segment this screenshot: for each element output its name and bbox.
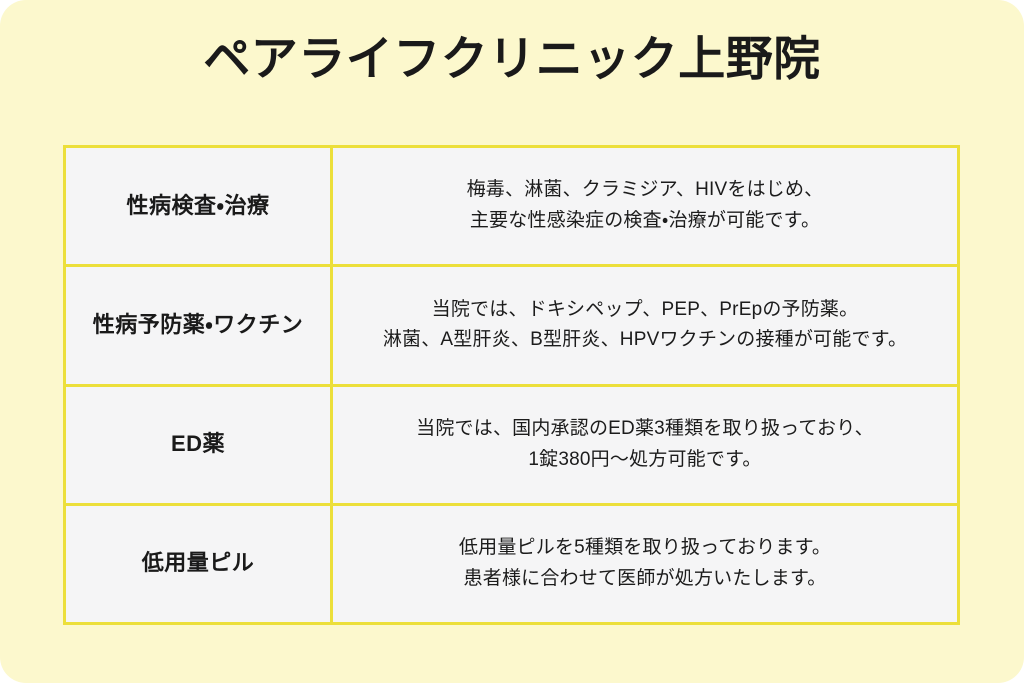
description-line: 1錠380円〜処方可能です。 (333, 445, 957, 476)
services-table: 性病検査・治療 梅毒、淋菌、クラミジア、HIVをはじめ、 主要な性感染症の検査・… (63, 145, 960, 625)
service-description-cell: 当院では、国内承認のED薬3種類を取り扱っており、 1錠380円〜処方可能です。 (332, 385, 959, 504)
description-line: 当院では、国内承認のED薬3種類を取り扱っており、 (333, 414, 957, 445)
service-label-cell: 低用量ピル (65, 504, 332, 623)
service-label-cell: ED薬 (65, 385, 332, 504)
service-label-cell: 性病予防薬・ワクチン (65, 266, 332, 385)
description-line: 主要な性感染症の検査・治療が可能です。 (333, 206, 957, 237)
service-label-cell: 性病検査・治療 (65, 147, 332, 266)
table-row: 性病検査・治療 梅毒、淋菌、クラミジア、HIVをはじめ、 主要な性感染症の検査・… (65, 147, 959, 266)
page-title: ペアライフクリニック上野院 (0, 30, 1024, 89)
service-description-cell: 当院では、ドキシペップ、PEP、PrEpの予防薬。 淋菌、A型肝炎、B型肝炎、H… (332, 266, 959, 385)
table-row: 性病予防薬・ワクチン 当院では、ドキシペップ、PEP、PrEpの予防薬。 淋菌、… (65, 266, 959, 385)
description-line: 患者様に合わせて医師が処方いたします。 (333, 564, 957, 595)
service-description-cell: 低用量ピルを5種類を取り扱っております。 患者様に合わせて医師が処方いたします。 (332, 504, 959, 623)
description-line: 淋菌、A型肝炎、B型肝炎、HPVワクチンの接種が可能です。 (333, 325, 957, 356)
service-description-cell: 梅毒、淋菌、クラミジア、HIVをはじめ、 主要な性感染症の検査・治療が可能です。 (332, 147, 959, 266)
clinic-services-card: ペアライフクリニック上野院 性病検査・治療 梅毒、淋菌、クラミジア、HIVをはじ… (0, 0, 1024, 683)
description-line: 梅毒、淋菌、クラミジア、HIVをはじめ、 (333, 175, 957, 206)
table-row: ED薬 当院では、国内承認のED薬3種類を取り扱っており、 1錠380円〜処方可… (65, 385, 959, 504)
description-line: 低用量ピルを5種類を取り扱っております。 (333, 533, 957, 564)
description-line: 当院では、ドキシペップ、PEP、PrEpの予防薬。 (333, 295, 957, 326)
table-row: 低用量ピル 低用量ピルを5種類を取り扱っております。 患者様に合わせて医師が処方… (65, 504, 959, 623)
